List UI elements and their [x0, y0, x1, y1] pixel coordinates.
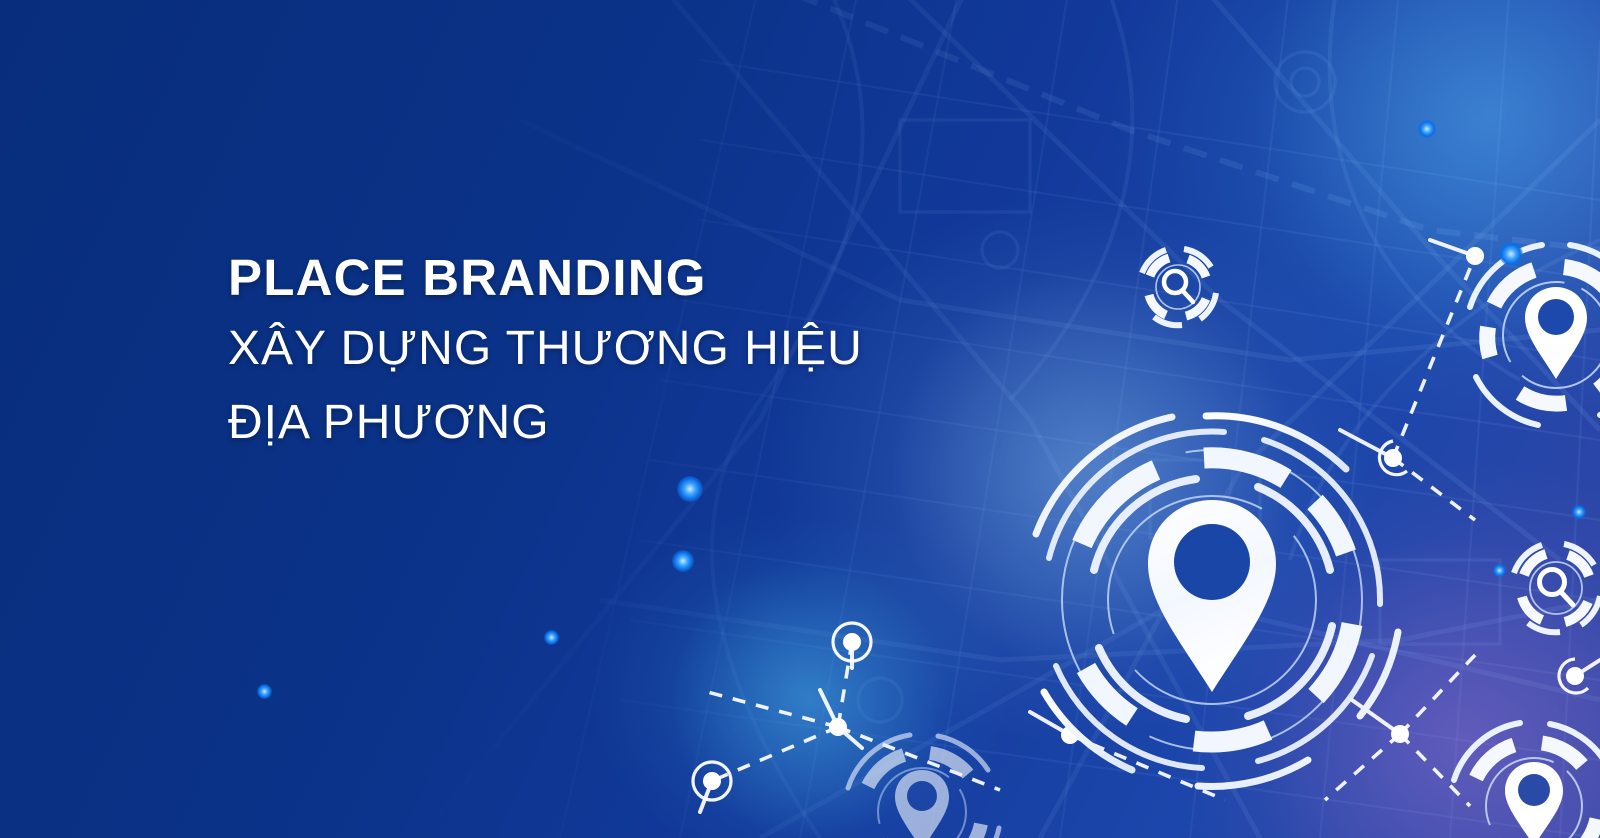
glow-dot — [257, 684, 272, 699]
pin-badge-right — [1458, 237, 1600, 433]
glow-dot — [1572, 505, 1586, 519]
glow-dot — [1493, 564, 1506, 577]
headline-line-2: XÂY DỰNG THƯƠNG HIỆU — [228, 312, 863, 386]
glow-dot — [1418, 120, 1436, 138]
glow-dot — [677, 476, 703, 502]
headline-line-1: PLACE BRANDING — [228, 248, 863, 308]
search-badge-right — [1506, 538, 1600, 638]
search-icon — [1164, 271, 1193, 302]
headline-block: PLACE BRANDING XÂY DỰNG THƯƠNG HIỆU ĐỊA … — [228, 248, 863, 460]
pin-badge-bottom — [838, 728, 1006, 838]
glow-dot — [544, 630, 559, 645]
headline-line-3: ĐỊA PHƯƠNG — [228, 386, 863, 460]
main-location-pin — [1020, 408, 1404, 792]
search-icon — [1540, 570, 1574, 606]
pin-badge-bottom-right — [1442, 714, 1600, 838]
glow-dot — [672, 550, 694, 572]
search-badge-top — [1134, 243, 1222, 331]
place-branding-banner: PLACE BRANDING XÂY DỰNG THƯƠNG HIỆU ĐỊA … — [0, 0, 1600, 838]
